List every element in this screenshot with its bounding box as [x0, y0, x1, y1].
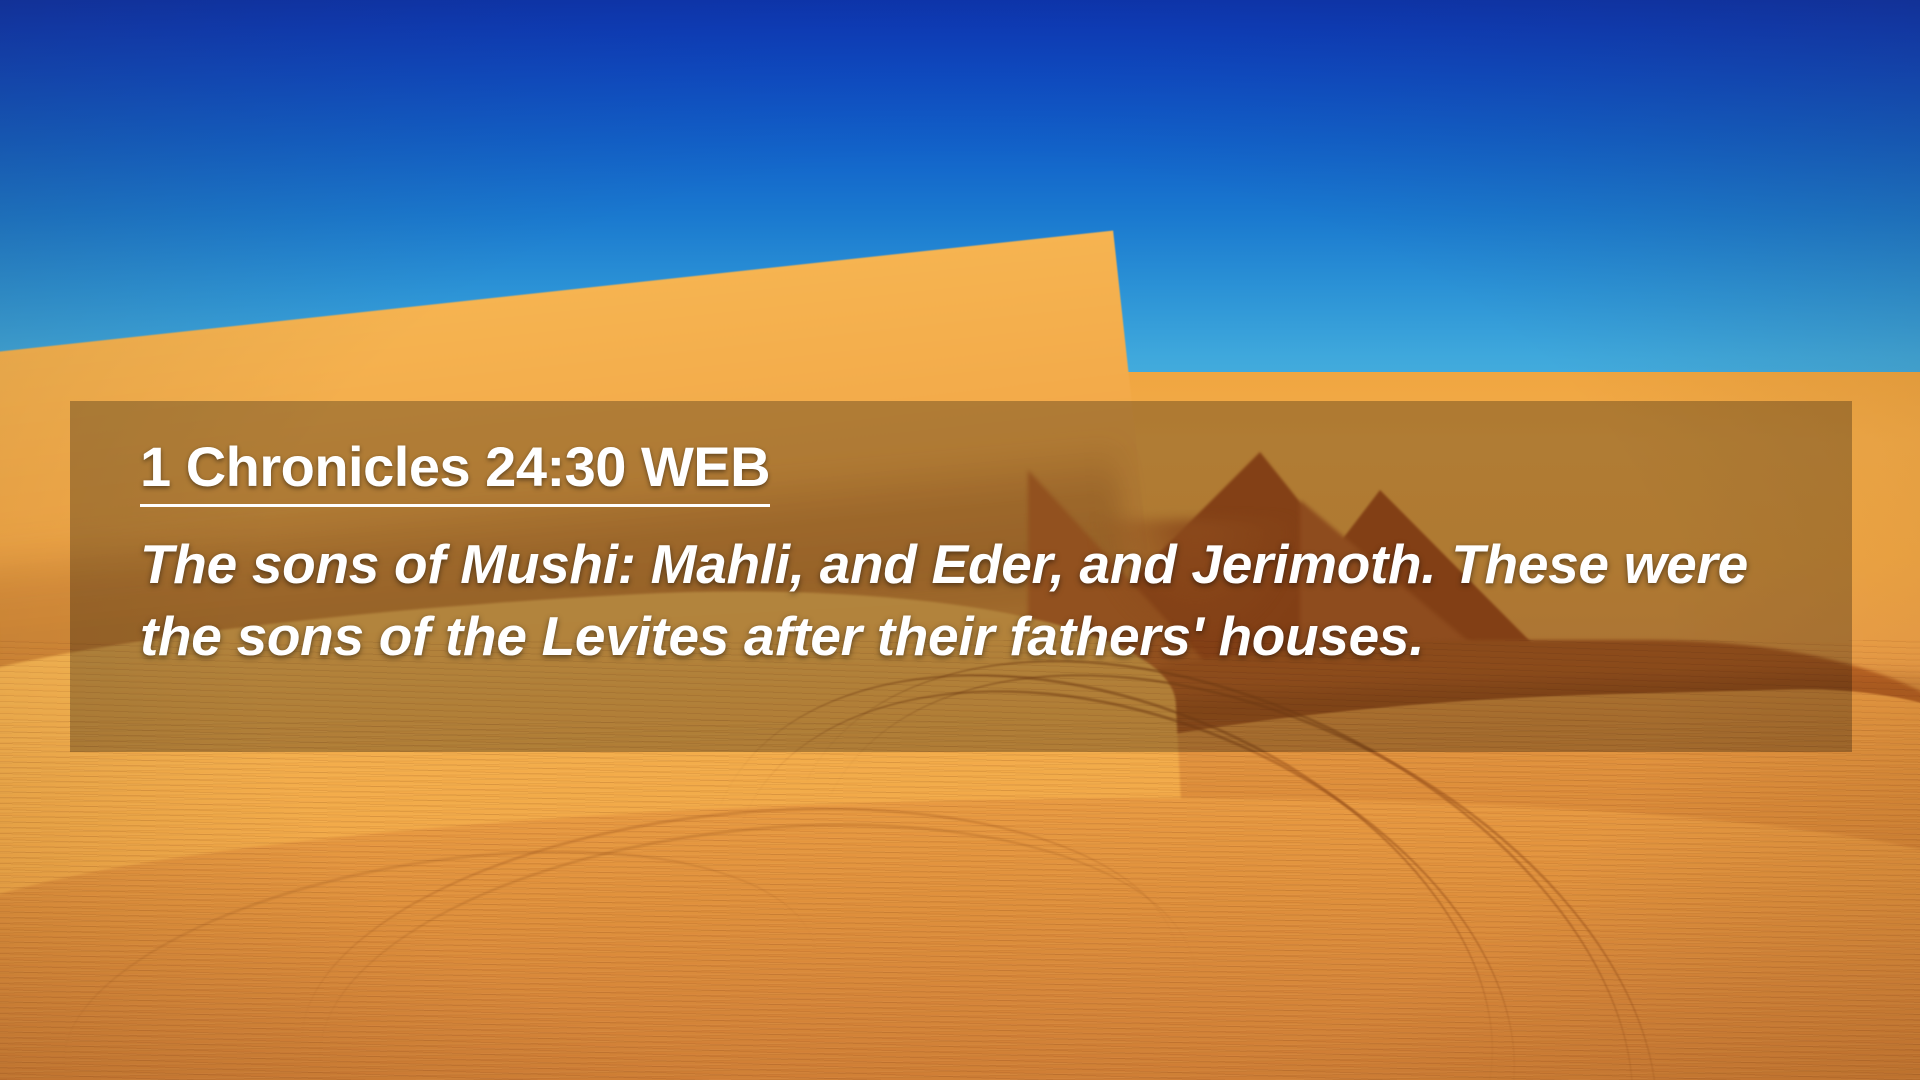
verse-text: The sons of Mushi: Mahli, and Eder, and … [140, 529, 1785, 672]
verse-overlay-panel: 1 Chronicles 24:30 WEB The sons of Mushi… [70, 401, 1852, 752]
verse-image-canvas: 1 Chronicles 24:30 WEB The sons of Mushi… [0, 0, 1920, 1080]
verse-reference: 1 Chronicles 24:30 WEB [140, 437, 770, 507]
